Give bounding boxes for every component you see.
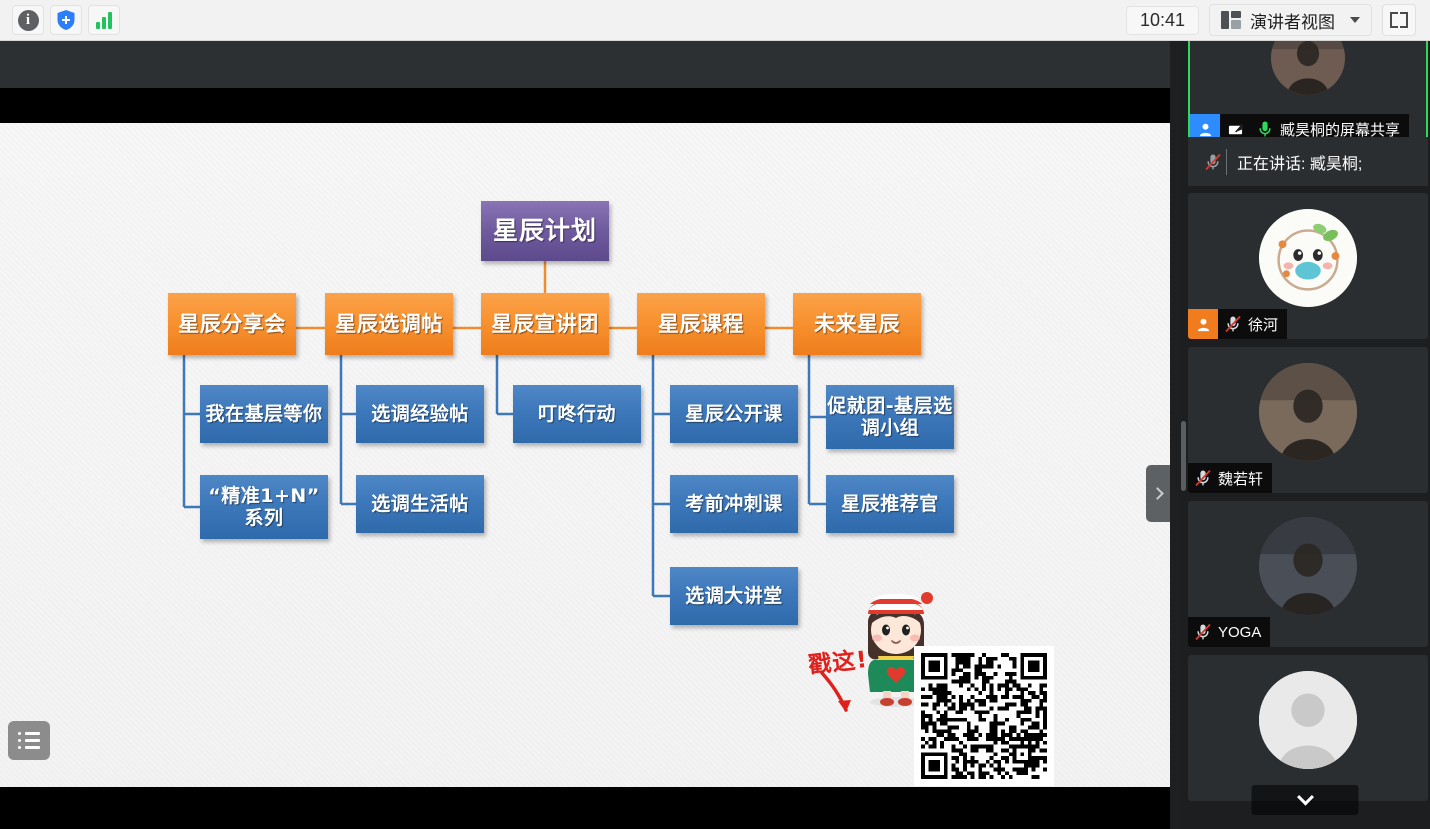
presentation-slide: 星辰计划星辰分享会星辰选调帖星辰宣讲团星辰课程未来星辰我在基层等你“精准1+N”…	[0, 123, 1170, 829]
mic-muted-icon	[1192, 468, 1214, 488]
chevron-right-icon	[1151, 487, 1164, 500]
participant-tile[interactable]: 臧昊桐的屏幕共享	[1188, 41, 1428, 146]
chart-node-level3-8: 促就团-基层选调小组	[826, 385, 954, 449]
qr-code-canvas	[921, 653, 1047, 779]
chevron-down-icon	[1350, 17, 1360, 23]
mic-on-icon	[1254, 119, 1276, 139]
panel-collapse-handle[interactable]	[1146, 465, 1170, 522]
toolbar-left-group: i	[0, 5, 120, 35]
host-badge	[1188, 309, 1218, 339]
letterbox-band-bottom	[0, 787, 1170, 829]
person-icon	[1196, 317, 1211, 332]
shield-plus-icon	[56, 9, 76, 31]
participant-tile[interactable]	[1188, 655, 1428, 801]
slide-menu-button[interactable]	[8, 721, 50, 760]
mic-muted-icon	[1192, 622, 1214, 642]
mic-muted-icon	[1222, 314, 1244, 334]
mic-muted-icon	[1202, 152, 1224, 172]
avatar	[1271, 41, 1345, 95]
chart-node-level3-1: “精准1+N”系列	[200, 475, 328, 539]
avatar	[1259, 517, 1357, 615]
list-icon	[18, 732, 40, 749]
chart-node-level2-2: 星辰宣讲团	[481, 293, 609, 355]
network-stats-button[interactable]	[88, 5, 120, 35]
screen-share-icon	[1228, 122, 1243, 137]
chart-node-level3-7: 选调大讲堂	[670, 567, 798, 625]
participant-name: 魏若轩	[1214, 468, 1263, 489]
chart-node-level3-2: 选调经验帖	[356, 385, 484, 443]
chart-node-level2-3: 星辰课程	[637, 293, 765, 355]
speaking-banner: 正在讲话: 臧昊桐;	[1188, 137, 1428, 186]
participant-nameplate: 徐河	[1188, 309, 1287, 339]
chart-node-level3-0: 我在基层等你	[200, 385, 328, 443]
participant-nameplate: YOGA	[1188, 617, 1270, 647]
chart-node-level3-9: 星辰推荐官	[826, 475, 954, 533]
participant-tile[interactable]: 魏若轩	[1188, 347, 1428, 493]
avatar	[1259, 671, 1357, 769]
chevron-down-icon	[1297, 789, 1314, 806]
participant-tile[interactable]: 徐河	[1188, 193, 1428, 339]
chart-node-level3-3: 选调生活帖	[356, 475, 484, 533]
chart-node-level3-4: 叮咚行动	[513, 385, 641, 443]
speaking-text: 正在讲话: 臧昊桐;	[1237, 150, 1362, 174]
clock: 10:41	[1126, 6, 1199, 35]
chart-node-root: 星辰计划	[481, 201, 609, 261]
view-mode-label: 演讲者视图	[1250, 8, 1335, 33]
avatar	[1259, 209, 1357, 307]
promo-block: 戳这!	[800, 578, 1120, 808]
participants-panel: 臧昊桐的屏幕共享徐河魏若轩YOGA 正在讲话: 臧昊桐;	[1180, 41, 1430, 829]
info-icon: i	[18, 10, 39, 31]
chart-node-level2-1: 星辰选调帖	[325, 293, 453, 355]
chart-node-level2-0: 星辰分享会	[168, 293, 296, 355]
chart-node-level3-6: 考前冲刺课	[670, 475, 798, 533]
security-button[interactable]	[50, 5, 82, 35]
view-mode-selector[interactable]: 演讲者视图	[1209, 4, 1372, 36]
fullscreen-button[interactable]	[1382, 4, 1416, 36]
letterbox-band	[0, 88, 1170, 123]
signal-bars-icon	[96, 12, 112, 29]
meeting-toolbar: i 10:41 演讲者视图	[0, 0, 1430, 41]
zoom-meeting-window: i 10:41 演讲者视图	[0, 0, 1430, 829]
chart-node-level3-5: 星辰公开课	[670, 385, 798, 443]
chart-node-level2-4: 未来星辰	[793, 293, 921, 355]
avatar	[1259, 363, 1357, 461]
panel-scrollbar[interactable]	[1181, 421, 1186, 491]
layout-icon	[1221, 11, 1241, 29]
participant-name: 徐河	[1244, 314, 1278, 335]
toolbar-right-group: 10:41 演讲者视图	[1126, 4, 1430, 36]
participant-name: YOGA	[1214, 624, 1261, 641]
panel-scroll-down-button[interactable]	[1252, 785, 1359, 815]
info-button[interactable]: i	[12, 5, 44, 35]
participant-tile[interactable]: YOGA	[1188, 501, 1428, 647]
person-icon	[1198, 122, 1213, 137]
qr-code[interactable]	[914, 646, 1054, 786]
fullscreen-icon	[1390, 12, 1398, 20]
participant-nameplate: 魏若轩	[1188, 463, 1272, 493]
shared-screen-area: 星辰计划星辰分享会星辰选调帖星辰宣讲团星辰课程未来星辰我在基层等你“精准1+N”…	[0, 41, 1170, 829]
